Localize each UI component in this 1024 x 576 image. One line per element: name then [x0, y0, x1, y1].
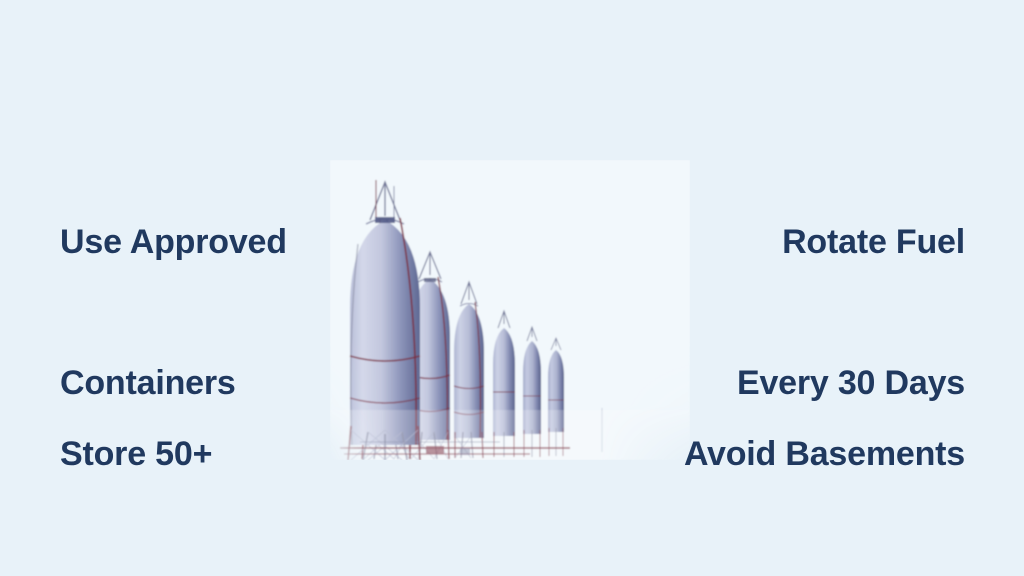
tip-line-1: Avoid Basements — [684, 431, 965, 478]
tip-line-2: Feet From Home — [60, 572, 325, 576]
tip-store-distance: Store 50+ Feet From Home — [60, 337, 325, 576]
slide-canvas: Use Approved Containers Rotate Fuel Ever… — [0, 0, 1024, 576]
tip-line-1: Use Approved — [60, 219, 287, 266]
tip-line-2: And Garages — [684, 572, 965, 576]
tip-avoid-basements: Avoid Basements And Garages — [684, 337, 965, 576]
tip-line-1: Store 50+ — [60, 431, 325, 478]
fuel-storage-tanks-photo — [330, 160, 690, 460]
tip-line-1: Rotate Fuel — [737, 219, 965, 266]
